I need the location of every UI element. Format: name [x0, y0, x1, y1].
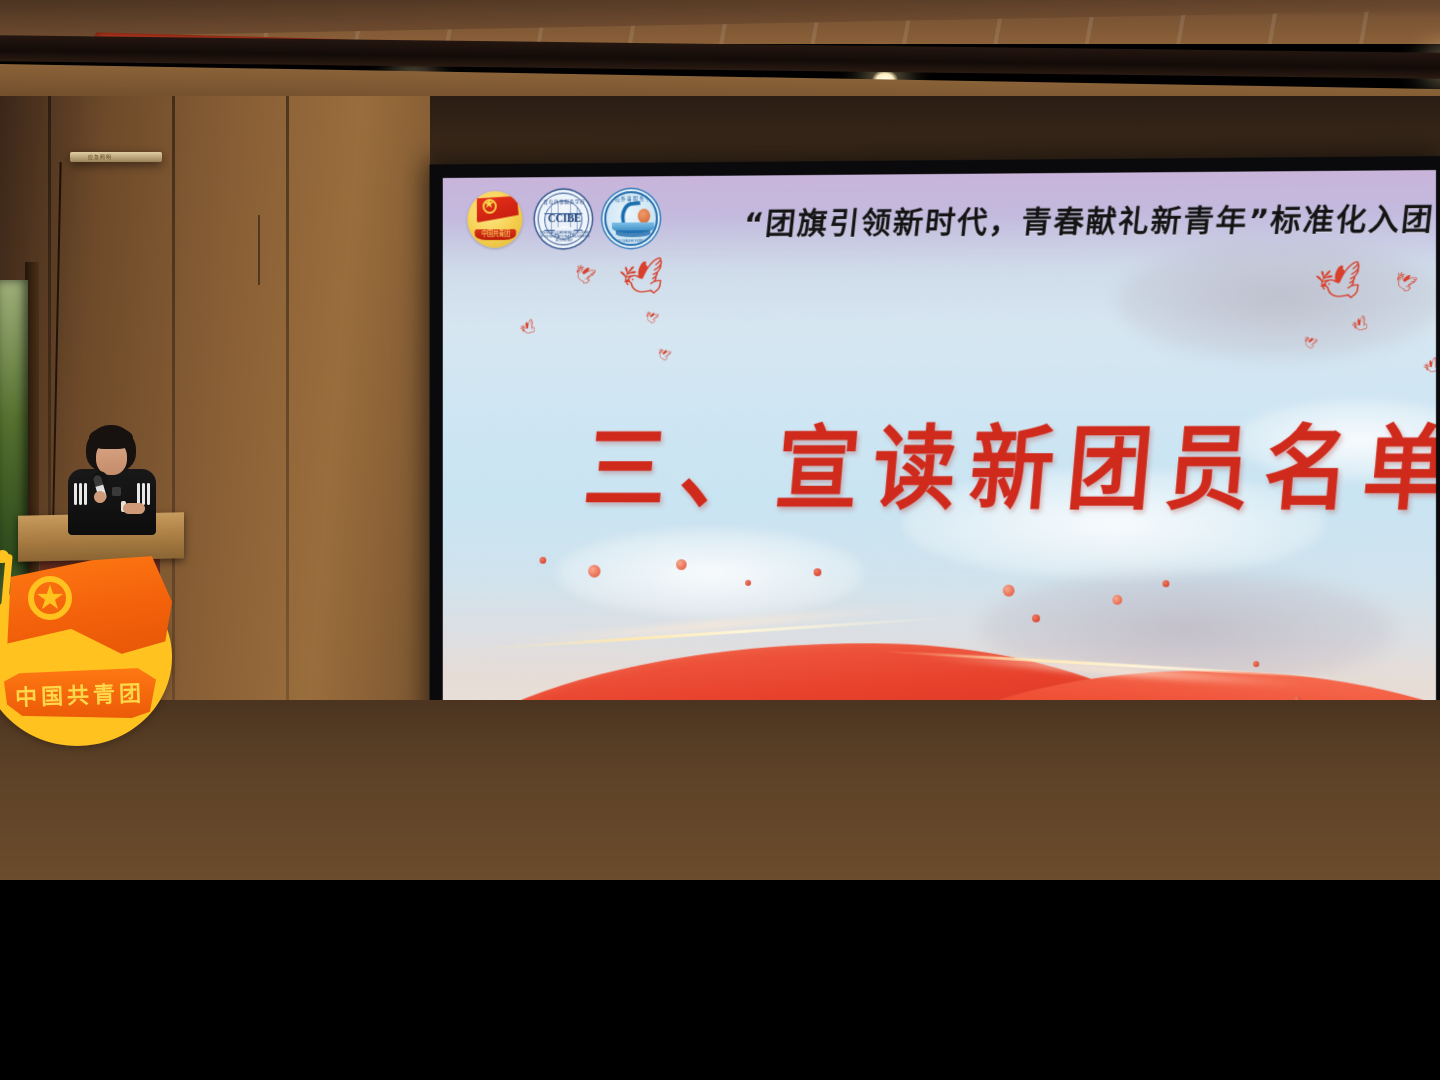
speaker-hand-on-podium [123, 503, 145, 514]
sleeve-stripe-left-3 [84, 483, 87, 505]
ccibe-cn-text: 青岛外事服务学校 [539, 198, 590, 205]
audience-seating: 张佳卉 樊梅 [0, 690, 1440, 1080]
confetti-dot-9 [1163, 580, 1170, 587]
bird-left-2: 🕊 [572, 263, 597, 286]
cyl-ribbon: 中国共青团 [474, 226, 517, 240]
led-screen-content: 中国共青团 青岛外事服务学校 CCIBE QINGDAO CHINESE COL… [443, 170, 1436, 764]
speaker-hair-front [89, 427, 133, 449]
confetti-dot-7 [1032, 614, 1040, 622]
communist-youth-league-emblem-icon: 中国共青团 [467, 191, 522, 248]
bird-left-1: 🕊 [617, 257, 671, 301]
confetti-dot-4 [745, 580, 751, 586]
sconce-label: 应急照明 [88, 154, 112, 161]
slide-main-title: 三、宣读新团员名单 [580, 393, 1436, 528]
confetti-dot-10 [1253, 661, 1259, 667]
sun-icon [638, 209, 650, 224]
emergency-light-fixture [70, 152, 162, 162]
podium-speaker [60, 425, 164, 535]
sleeve-stripe-left-1 [74, 483, 77, 505]
sail-en-text: QINGDAO WAISHI FUWU XUEXIAO [606, 239, 658, 243]
bird-left-4: 🕊 [643, 312, 659, 326]
wave-icon-secondary [616, 230, 650, 237]
wave-shine-1 [501, 603, 932, 647]
ccibe-logo-icon: 青岛外事服务学校 CCIBE QINGDAO CHINESE COLLEGE O… [538, 192, 589, 245]
confetti-dot-2 [540, 557, 547, 564]
bird-right-5: 🕊 [1422, 357, 1436, 377]
confetti-dot-8 [1112, 595, 1122, 605]
sleeve-stripe-right-2 [142, 483, 145, 505]
speaker-hand-holding-mic [94, 491, 106, 503]
ccibe-acronym: CCIBE [539, 213, 590, 225]
confetti-dot-1 [588, 565, 600, 578]
sleeve-stripe-right-1 [137, 483, 140, 505]
bird-left-5: 🕊 [656, 349, 672, 363]
speaker-torso [68, 469, 156, 535]
wall-cable-secondary [258, 215, 260, 285]
confetti-dot-5 [814, 568, 822, 576]
qingdao-school-sail-logo-icon: 青岛外事服务学校 QINGDAO WAISHI FUWU XUEXIAO [604, 191, 658, 246]
slide-header-text: “团旗引领新时代，青春献礼新青年”标准化入团 [742, 194, 1436, 243]
ccibe-en-text: QINGDAO CHINESE COLLEGE OF INTERNATIONAL… [539, 231, 590, 243]
bird-left-3: 🕊 [518, 318, 538, 337]
confetti-dot-3 [676, 559, 687, 570]
sleeve-stripe-right-3 [147, 483, 150, 505]
badge-star-icon: ★ [28, 576, 72, 620]
cloud-3 [1117, 240, 1436, 361]
cyl-ribbon-text: 中国共青团 [477, 227, 515, 238]
wall-seam-3 [286, 96, 289, 776]
logo-row: 中国共青团 青岛外事服务学校 CCIBE QINGDAO CHINESE COL… [467, 190, 657, 248]
cyl-star-icon [483, 199, 497, 214]
confetti-dot-6 [1002, 585, 1014, 597]
auditorium-screenshot: 应急照明 中国共青团 青岛外事服务学 [0, 0, 1440, 1080]
shirt-logo [112, 487, 121, 496]
sleeve-stripe-left-2 [79, 483, 82, 505]
